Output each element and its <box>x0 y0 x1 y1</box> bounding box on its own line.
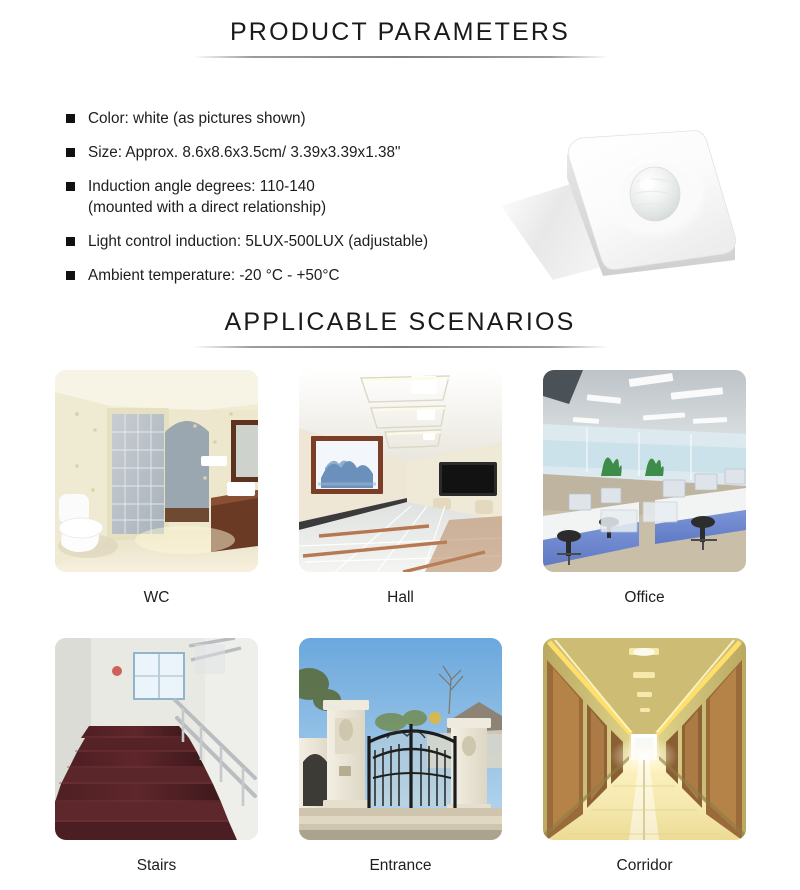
square-bullet-icon <box>66 114 75 123</box>
scenario-image-villa-gate[interactable] <box>299 638 502 840</box>
scenario-image-stairwell[interactable] <box>55 638 258 840</box>
scenario-caption: Entrance <box>299 857 502 875</box>
scenario-row: Stairs <box>55 638 747 875</box>
scenario-caption: WC <box>55 589 258 607</box>
parameter-size: Size: Approx. 8.6x8.6x3.5cm/ 3.39x3.39x1… <box>88 142 400 163</box>
scenario-image-hall[interactable] <box>299 370 502 572</box>
list-item: Size: Approx. 8.6x8.6x3.5cm/ 3.39x3.39x1… <box>66 142 536 163</box>
square-bullet-icon <box>66 237 75 246</box>
parameter-light-control: Light control induction: 5LUX-500LUX (ad… <box>88 231 428 252</box>
scenario-caption: Corridor <box>543 857 746 875</box>
list-item: Light control induction: 5LUX-500LUX (ad… <box>66 231 536 252</box>
parameter-ambient-temperature: Ambient temperature: -20 °C - +50°C <box>88 265 340 286</box>
scenario-cell-wc: WC <box>55 370 258 607</box>
list-item: Color: white (as pictures shown) <box>66 108 536 129</box>
scenario-cell-stairs: Stairs <box>55 638 258 875</box>
scenario-caption: Hall <box>299 589 502 607</box>
parameter-induction-angle-note: (mounted with a direct relationship) <box>88 197 326 218</box>
parameter-color: Color: white (as pictures shown) <box>88 108 306 129</box>
page-title: PRODUCT PARAMETERS <box>0 20 800 45</box>
scenario-caption: Office <box>543 589 746 607</box>
parameter-list: Color: white (as pictures shown) Size: A… <box>66 108 536 299</box>
list-item: Ambient temperature: -20 °C - +50°C <box>66 265 536 286</box>
square-bullet-icon <box>66 148 75 157</box>
applicable-scenarios-heading: APPLICABLE SCENARIOS <box>0 310 800 348</box>
scenario-row: WC <box>55 370 747 607</box>
parameter-induction-angle-main: Induction angle degrees: 110-140 <box>88 178 315 195</box>
section-title: APPLICABLE SCENARIOS <box>0 310 800 335</box>
scenario-cell-office: Office <box>543 370 746 607</box>
scenario-image-corridor[interactable] <box>543 638 746 840</box>
heading-underline <box>193 346 608 348</box>
product-image-pir-sensor <box>495 108 780 293</box>
scenario-grid: WC <box>55 370 747 887</box>
scenario-cell-hall: Hall <box>299 370 502 607</box>
square-bullet-icon <box>66 182 75 191</box>
scenario-caption: Stairs <box>55 857 258 875</box>
heading-underline <box>193 56 608 58</box>
scenario-cell-corridor: Corridor <box>543 638 746 875</box>
scenario-cell-entrance: Entrance <box>299 638 502 875</box>
product-parameters-heading: PRODUCT PARAMETERS <box>0 20 800 58</box>
parameter-induction-angle: Induction angle degrees: 110-140 (mounte… <box>88 176 326 218</box>
square-bullet-icon <box>66 271 75 280</box>
list-item: Induction angle degrees: 110-140 (mounte… <box>66 176 536 218</box>
scenario-image-bathroom[interactable] <box>55 370 258 572</box>
scenario-image-office[interactable] <box>543 370 746 572</box>
